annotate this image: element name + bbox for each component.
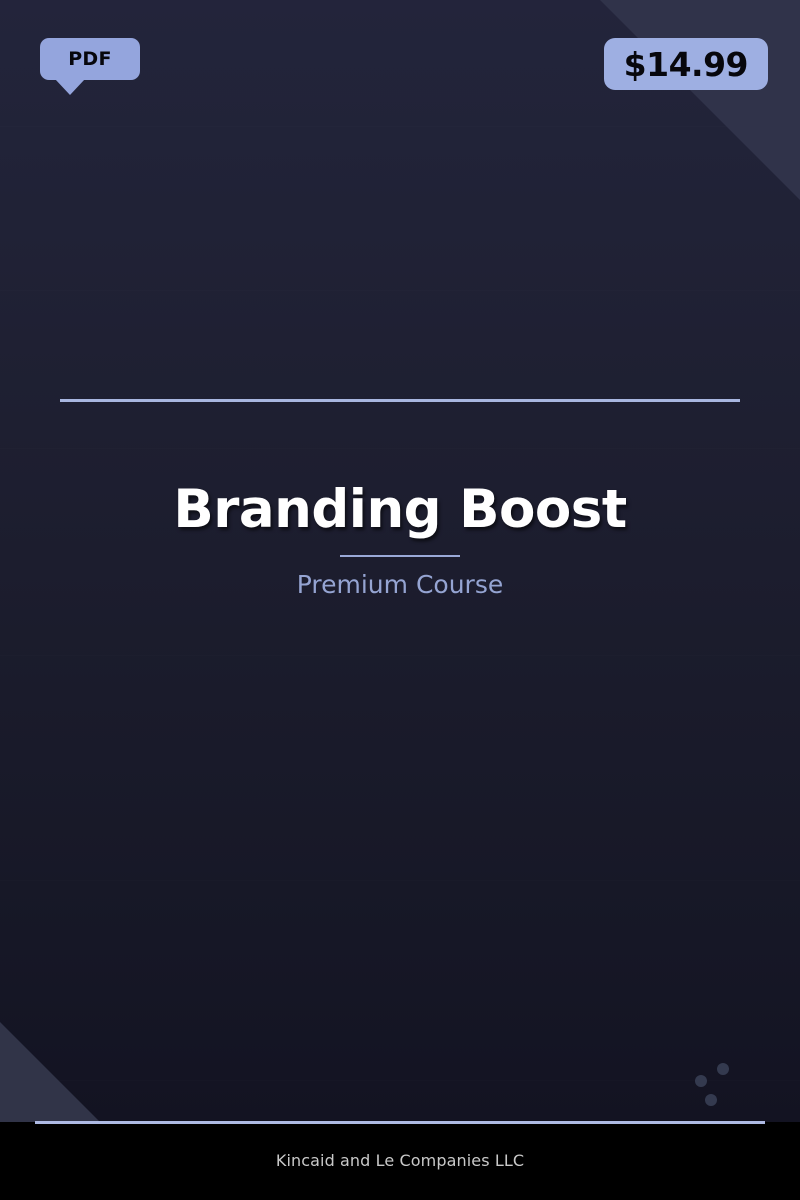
format-badge-pointer-icon [55,79,85,95]
decorative-dot-icon [695,1075,707,1087]
corner-decoration-bottom-left-icon [0,1022,100,1122]
format-badge[interactable]: PDF [40,38,140,80]
title-block: Branding Boost Premium Course [0,482,800,599]
background-band [0,1080,800,1081]
decorative-dot-icon [705,1094,717,1106]
corner-decoration-top-right-icon [600,0,800,200]
header-divider [60,399,740,402]
title-underline [340,555,460,557]
background-band [0,880,800,881]
footer-company-name: Kincaid and Le Companies LLC [276,1153,524,1169]
price-badge-label: $14.99 [624,48,748,81]
page-subtitle: Premium Course [0,571,800,599]
page-title: Branding Boost [0,482,800,538]
document-canvas: Branding Boost Premium Course [0,0,800,1122]
price-badge[interactable]: $14.99 [604,38,768,90]
background-band [0,290,800,291]
format-badge-label: PDF [68,50,112,69]
footer-divider [35,1121,765,1124]
footer: Kincaid and Le Companies LLC [0,1122,800,1200]
background-band [0,448,800,449]
decorative-dot-icon [717,1063,729,1075]
background-band [0,655,800,656]
document-page: Branding Boost Premium Course PDF $14.99… [0,0,800,1200]
